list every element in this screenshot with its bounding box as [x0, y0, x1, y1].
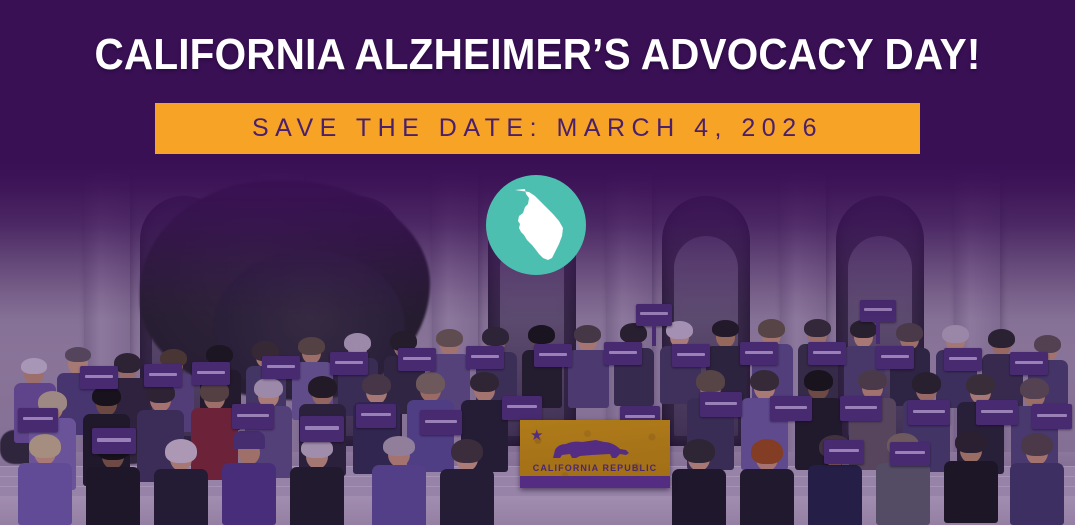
advocacy-placard [92, 428, 136, 454]
advocacy-placard [740, 342, 778, 365]
advocacy-placard [420, 410, 462, 435]
building-cornice-lower [0, 166, 1075, 173]
advocacy-placard [770, 396, 812, 421]
california-state-outline-icon [505, 188, 567, 262]
advocacy-placard [192, 362, 230, 385]
advocacy-placard [840, 396, 882, 421]
advocacy-placard [824, 440, 864, 464]
save-the-date-bar: SAVE THE DATE: MARCH 4, 2026 [155, 103, 920, 154]
advocacy-placard [808, 342, 846, 365]
advocacy-placard [1032, 404, 1072, 429]
advocacy-placard [356, 404, 396, 428]
advocacy-placard [672, 344, 710, 367]
advocacy-placard [860, 300, 896, 322]
advocacy-placard [80, 366, 118, 389]
advocacy-placard [604, 342, 642, 365]
advocacy-placard [300, 416, 344, 442]
flag-label: CALIFORNIA REPUBLIC [520, 463, 670, 473]
advocacy-placard [262, 356, 300, 379]
advocacy-placard [330, 352, 368, 375]
advocacy-placard [144, 364, 182, 387]
save-the-date-label: SAVE THE DATE: MARCH 4, 2026 [252, 114, 823, 143]
advocacy-placard [700, 392, 742, 417]
advocacy-placard [890, 442, 930, 466]
advocacy-placard [466, 346, 504, 369]
california-republic-flag: ★ CALIFORNIA REPUBLIC [520, 420, 670, 488]
crowd-of-advocates [0, 300, 1075, 525]
advocacy-placard [976, 400, 1018, 425]
advocacy-placard [398, 348, 436, 371]
advocacy-placard [636, 304, 672, 326]
flag-bottom-stripe [520, 476, 670, 488]
advocacy-placard [232, 404, 274, 429]
advocacy-placard [18, 408, 58, 432]
page-title: CALIFORNIA ALZHEIMER’S ADVOCACY DAY! [43, 30, 1032, 80]
advocacy-placard [876, 346, 914, 369]
bear-icon [550, 436, 634, 464]
advocacy-placard [502, 396, 542, 420]
alzheimers-advocacy-day-banner: ★ CALIFORNIA REPUBLIC CALIFORNIA ALZHEIM… [0, 0, 1075, 525]
advocacy-placard [1010, 352, 1048, 375]
star-icon: ★ [530, 429, 543, 442]
advocacy-placard [908, 400, 950, 425]
advocacy-placard [534, 344, 572, 367]
advocacy-placard [944, 348, 982, 371]
california-badge [486, 175, 586, 275]
